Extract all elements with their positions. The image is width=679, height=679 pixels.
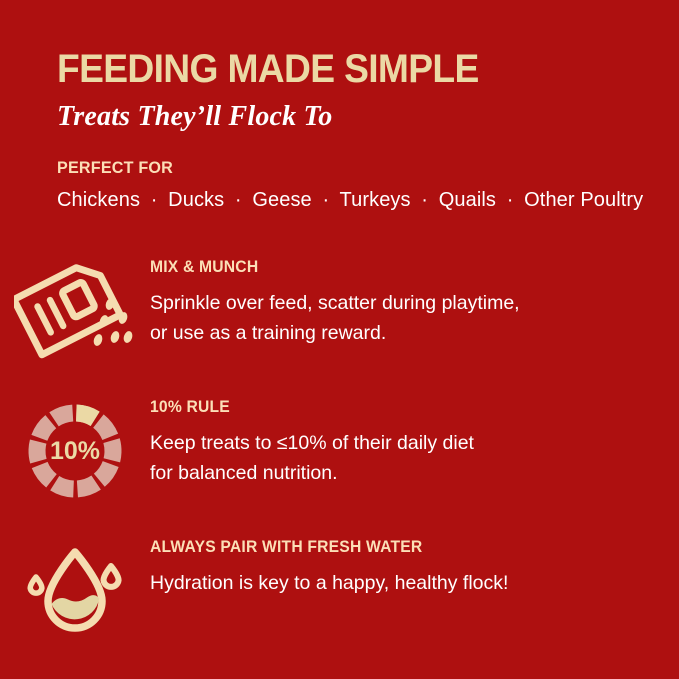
water-droplet-icon [0, 536, 150, 638]
infographic-page: FEEDING MADE SIMPLE Treats They’ll Flock… [0, 0, 679, 679]
perfect-for-item-quails: Quails [439, 189, 496, 211]
feature-body-line: for balanced nutrition. [150, 458, 474, 488]
perfect-for-list: Chickens · Ducks · Geese · Turkeys · Qua… [57, 189, 657, 212]
feature-body: Hydration is key to a happy, healthy flo… [150, 568, 508, 598]
feature-body-line: Hydration is key to a happy, healthy flo… [150, 568, 508, 598]
feature-row-fresh-water: ALWAYS PAIR WITH FRESH WATER Hydration i… [0, 536, 679, 656]
feature-title: MIX & MUNCH [150, 258, 501, 277]
feature-body: Sprinkle over feed, scatter during playt… [150, 288, 520, 348]
donut-center-label: 10% [50, 437, 100, 465]
list-separator: · [146, 189, 163, 211]
treat-packet-sprinkle-icon [0, 256, 150, 362]
feature-title: 10% RULE [150, 398, 458, 417]
feature-text-ten-percent-rule: 10% RULE Keep treats to ≤10% of their da… [150, 396, 474, 488]
feature-body-line: Sprinkle over feed, scatter during playt… [150, 288, 520, 318]
ten-percent-donut-icon: 10% [0, 396, 150, 504]
feature-row-mix-and-munch: MIX & MUNCH Sprinkle over feed, scatter … [0, 256, 679, 396]
perfect-for-label: PERFECT FOR [57, 158, 627, 178]
feature-body-line: Keep treats to ≤10% of their daily diet [150, 428, 474, 458]
perfect-for-item-geese: Geese [252, 189, 311, 211]
feature-body-line: or use as a training reward. [150, 318, 520, 348]
page-subtitle: Treats They’ll Flock To [57, 101, 657, 133]
list-separator: · [230, 189, 247, 211]
perfect-for-item-other-poultry: Other Poultry [524, 189, 643, 211]
feature-title: ALWAYS PAIR WITH FRESH WATER [150, 538, 491, 557]
perfect-for-item-ducks: Ducks [168, 189, 224, 211]
feature-body: Keep treats to ≤10% of their daily diet … [150, 428, 474, 488]
list-separator: · [317, 189, 334, 211]
feature-list: MIX & MUNCH Sprinkle over feed, scatter … [0, 256, 679, 656]
list-separator: · [502, 189, 519, 211]
page-title: FEEDING MADE SIMPLE [57, 48, 615, 90]
feature-text-fresh-water: ALWAYS PAIR WITH FRESH WATER Hydration i… [150, 536, 508, 598]
header-block: FEEDING MADE SIMPLE Treats They’ll Flock… [57, 48, 657, 212]
feature-row-ten-percent-rule: 10% 10% RULE Keep treats to ≤10% of thei… [0, 396, 679, 536]
list-separator: · [416, 189, 433, 211]
perfect-for-item-turkeys: Turkeys [340, 189, 411, 211]
feature-text-mix-and-munch: MIX & MUNCH Sprinkle over feed, scatter … [150, 256, 520, 348]
perfect-for-item-chickens: Chickens [57, 189, 140, 211]
